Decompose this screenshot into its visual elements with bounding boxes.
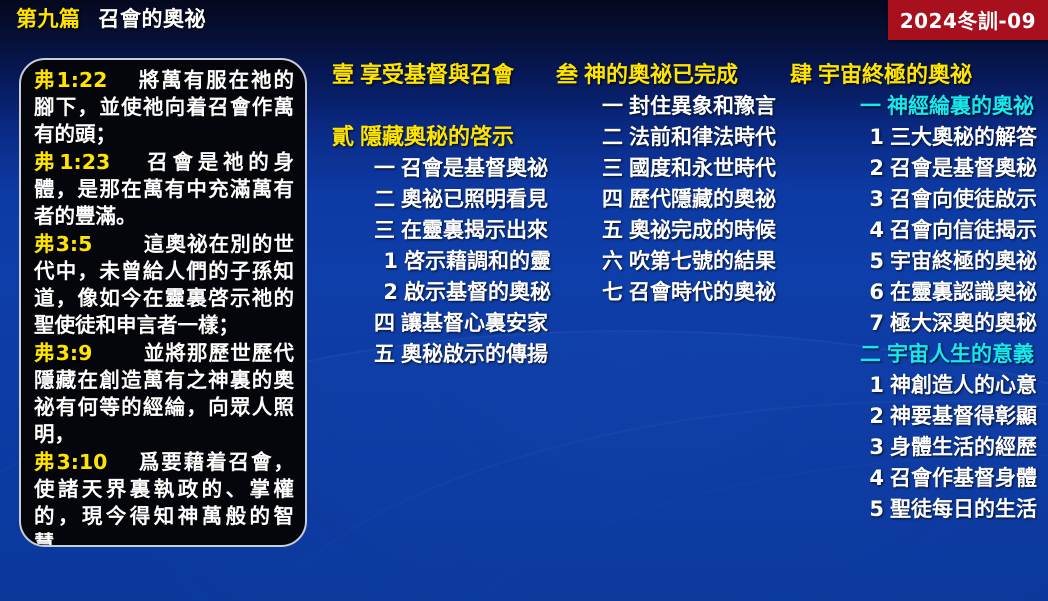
slide-header: 第九篇召會的奧祕 2024冬訓-09 [0, 0, 1048, 36]
item-marker: 7 [869, 311, 884, 335]
item-label: 宇宙終極的奧祕 [890, 249, 1037, 273]
outline-item[interactable]: 一封住異象和豫言 [556, 91, 782, 122]
item-label: 召會向信徒揭示 [890, 218, 1037, 242]
outline-column-2: 叁神的奧祕已完成一封住異象和豫言二法前和律法時代三國度和永世時代四歷代隱藏的奧祕… [556, 60, 782, 308]
outline-column-1: 壹享受基督與召會貳隱藏奧秘的啓示一召會是基督奧祕二奧祕已照明看見三在靈裏揭示出來… [332, 60, 554, 370]
item-marker: 四 [374, 311, 395, 335]
item-marker: 3 [869, 187, 884, 211]
item-label: 在靈裏認識奧祕 [890, 280, 1037, 304]
item-label: 讓基督心裏安家 [401, 311, 548, 335]
outline-item[interactable]: 四讓基督心裏安家 [332, 308, 554, 339]
subheading-label: 神經綸裏的奧祕 [887, 94, 1034, 118]
outline-item[interactable]: 4召會向信徒揭示 [790, 215, 1040, 246]
item-label: 封住異象和豫言 [629, 94, 776, 118]
item-label: 召會是基督奧祕 [401, 156, 548, 180]
outline-item[interactable]: 二奧祕已照明看見 [332, 184, 554, 215]
verse-panel: 弗1:22 將萬有服在祂的腳下，並使祂向着召會作萬有的頭；弗1:23 召會是祂的… [19, 58, 307, 547]
status-badge: 2024冬訓-09 [888, 0, 1048, 40]
outline-item[interactable]: 五奧秘啟示的傳揚 [332, 339, 554, 370]
item-marker: 一 [374, 156, 395, 180]
item-label: 召會是基督奧秘 [890, 156, 1037, 180]
item-label: 奧秘啟示的傳揚 [401, 342, 548, 366]
verse-reference: 弗3:5 [34, 232, 92, 256]
item-label: 三大奧秘的解答 [890, 125, 1037, 149]
outline-column-3: 肆宇宙終極的奧祕一神經綸裏的奧祕1三大奧秘的解答2召會是基督奧秘3召會向使徒啟示… [790, 60, 1040, 525]
item-marker: 1 [869, 125, 884, 149]
section-marker: 肆 [790, 63, 812, 88]
item-marker: 2 [869, 404, 884, 428]
outline-spacer [332, 91, 554, 122]
section-marker: 壹 [332, 63, 354, 88]
outline-item[interactable]: 二法前和律法時代 [556, 122, 782, 153]
item-marker: 2 [383, 280, 398, 304]
item-label: 聖徒每日的生活 [890, 497, 1037, 521]
item-label: 奧祕完成的時候 [629, 218, 776, 242]
outline-item[interactable]: 五奧祕完成的時候 [556, 215, 782, 246]
item-marker: 七 [602, 280, 623, 304]
item-label: 吹第七號的結果 [629, 249, 776, 273]
outline-item[interactable]: 六吹第七號的結果 [556, 246, 782, 277]
chapter-number: 第九篇 [16, 7, 81, 31]
item-label: 神要基督得彰顯 [890, 404, 1037, 428]
verse-reference: 弗1:22 [34, 68, 107, 92]
item-marker: 1 [869, 373, 884, 397]
item-marker: 五 [602, 218, 623, 242]
item-marker: 4 [869, 466, 884, 490]
item-marker: 三 [374, 218, 395, 242]
item-marker: 二 [374, 187, 395, 211]
section-marker: 貳 [332, 125, 354, 150]
item-label: 啟示基督的奧秘 [404, 280, 551, 304]
outline-item[interactable]: 7極大深奧的奧秘 [790, 308, 1040, 339]
outline-item[interactable]: 三在靈裏揭示出來 [332, 215, 554, 246]
subheading-marker: 二 [860, 342, 881, 366]
item-label: 召會作基督身體 [890, 466, 1037, 490]
outline-section-heading[interactable]: 貳隱藏奧秘的啓示 [332, 122, 554, 153]
outline-item[interactable]: 6在靈裏認識奧祕 [790, 277, 1040, 308]
outline-item[interactable]: 2啟示基督的奧秘 [332, 277, 554, 308]
item-marker: 1 [383, 249, 398, 273]
verse-line: 弗3:10 爲要藉着召會，使諸天界裏執政的、掌權的，現今得知神萬般的智慧， [34, 449, 294, 547]
item-label: 極大深奧的奧秘 [890, 311, 1037, 335]
outline-subheading[interactable]: 二宇宙人生的意義 [790, 339, 1040, 370]
item-marker: 四 [602, 187, 623, 211]
outline-item[interactable]: 3召會向使徒啟示 [790, 184, 1040, 215]
outline-section-heading[interactable]: 叁神的奧祕已完成 [556, 60, 782, 91]
item-marker: 二 [602, 125, 623, 149]
item-marker: 三 [602, 156, 623, 180]
item-marker: 6 [869, 280, 884, 304]
item-label: 國度和永世時代 [629, 156, 776, 180]
verse-list: 弗1:22 將萬有服在祂的腳下，並使祂向着召會作萬有的頭；弗1:23 召會是祂的… [34, 67, 294, 547]
subheading-marker: 一 [860, 94, 881, 118]
item-marker: 5 [869, 249, 884, 273]
verse-line: 弗1:23 召會是祂的身體，是那在萬有中充滿萬有者的豐滿。 [34, 149, 294, 230]
section-title: 神的奧祕已完成 [584, 63, 738, 88]
item-marker: 3 [869, 435, 884, 459]
item-marker: 2 [869, 156, 884, 180]
item-marker: 4 [869, 218, 884, 242]
item-label: 召會時代的奧祕 [629, 280, 776, 304]
item-label: 召會向使徒啟示 [890, 187, 1037, 211]
verse-line: 弗1:22 將萬有服在祂的腳下，並使祂向着召會作萬有的頭； [34, 67, 294, 148]
section-title: 享受基督與召會 [360, 63, 514, 88]
outline-item[interactable]: 七召會時代的奧祕 [556, 277, 782, 308]
outline-section-heading[interactable]: 肆宇宙終極的奧祕 [790, 60, 1040, 91]
subheading-label: 宇宙人生的意義 [887, 342, 1034, 366]
verse-reference: 弗3:10 [34, 450, 107, 474]
outline-item[interactable]: 5宇宙終極的奧祕 [790, 246, 1040, 277]
item-label: 奧祕已照明看見 [401, 187, 548, 211]
item-label: 啓示藉調和的靈 [404, 249, 551, 273]
outline-item[interactable]: 1神創造人的心意 [790, 370, 1040, 401]
item-marker: 5 [869, 497, 884, 521]
verse-line: 弗3:9 並將那歷世歷代隱藏在創造萬有之神裏的奧祕有何等的經綸，向眾人照明， [34, 340, 294, 448]
chapter-title: 召會的奧祕 [99, 7, 207, 31]
item-label: 歷代隱藏的奧祕 [629, 187, 776, 211]
page-title: 第九篇召會的奧祕 [16, 3, 206, 33]
verse-line: 弗3:5 這奧祕在別的世代中，未曾給人們的子孫知道，像如今在靈裏啓示祂的聖使徒和… [34, 231, 294, 339]
outline-subheading[interactable]: 一神經綸裏的奧祕 [790, 91, 1040, 122]
outline-item[interactable]: 1啓示藉調和的靈 [332, 246, 554, 277]
outline-item[interactable]: 2神要基督得彰顯 [790, 401, 1040, 432]
item-marker: 六 [602, 249, 623, 273]
outline-item[interactable]: 三國度和永世時代 [556, 153, 782, 184]
item-label: 法前和律法時代 [629, 125, 776, 149]
outline-item[interactable]: 2召會是基督奧秘 [790, 153, 1040, 184]
item-label: 神創造人的心意 [890, 373, 1037, 397]
outline-item[interactable]: 5聖徒每日的生活 [790, 494, 1040, 525]
slide-root: 第九篇召會的奧祕 2024冬訓-09 弗1:22 將萬有服在祂的腳下，並使祂向着… [0, 0, 1048, 601]
item-label: 在靈裏揭示出來 [401, 218, 548, 242]
section-title: 隱藏奧秘的啓示 [360, 125, 514, 150]
item-marker: 一 [602, 94, 623, 118]
verse-reference: 弗3:9 [34, 341, 92, 365]
verse-reference: 弗1:23 [34, 150, 110, 174]
outline-item[interactable]: 3身體生活的經歷 [790, 432, 1040, 463]
item-marker: 五 [374, 342, 395, 366]
outline-item[interactable]: 4召會作基督身體 [790, 463, 1040, 494]
outline-item[interactable]: 1三大奧秘的解答 [790, 122, 1040, 153]
section-marker: 叁 [556, 63, 578, 88]
outline-item[interactable]: 一召會是基督奧祕 [332, 153, 554, 184]
outline-section-heading[interactable]: 壹享受基督與召會 [332, 60, 554, 91]
item-label: 身體生活的經歷 [890, 435, 1037, 459]
section-title: 宇宙終極的奧祕 [818, 63, 972, 88]
outline-item[interactable]: 四歷代隱藏的奧祕 [556, 184, 782, 215]
